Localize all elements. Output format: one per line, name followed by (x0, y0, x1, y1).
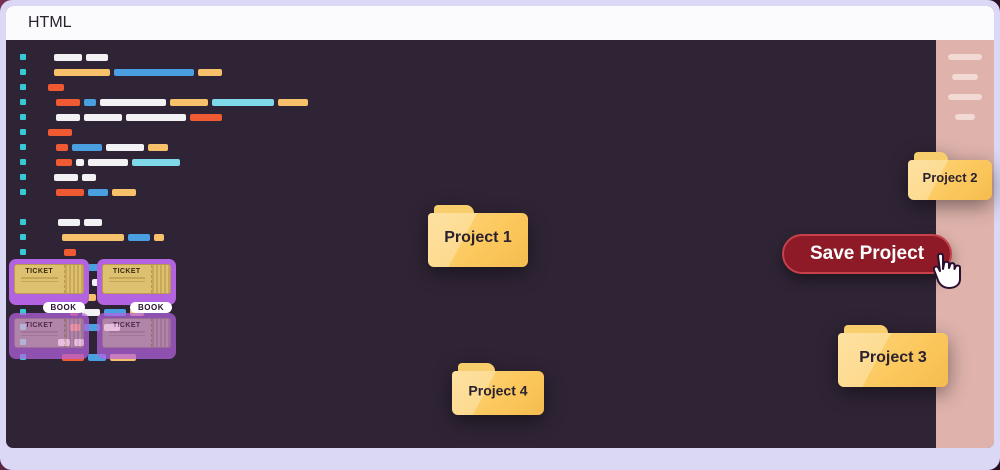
ticket-label: TICKET (15, 268, 64, 275)
ticket-label: TICKET (15, 322, 64, 329)
code-line (40, 84, 930, 91)
ticket-cell[interactable]: TICKET BOOK (97, 259, 177, 305)
ticket-cell[interactable]: TICKET (9, 313, 89, 359)
folder-project-3-label: Project 3 (838, 349, 948, 367)
code-line (40, 69, 930, 76)
ticket-label: TICKET (103, 268, 152, 275)
banner-stage: HTML Project Ideas & Topics For Beginner… (0, 0, 1000, 470)
folder-project-1-label: Project 1 (428, 229, 528, 247)
code-line (40, 159, 930, 166)
code-bullet-icon (20, 174, 26, 180)
ticket-icon: TICKET (102, 264, 172, 294)
code-bullet-icon (20, 249, 26, 255)
folder-project-2[interactable]: Project 2 (908, 152, 992, 200)
folder-project-3[interactable]: Project 3 (838, 325, 948, 387)
code-bullet-icon (20, 234, 26, 240)
ticket-cell[interactable]: TICKET (97, 313, 177, 359)
code-bullet-spacer (20, 204, 26, 210)
ticket-icon: TICKET (14, 318, 84, 348)
code-window-title: HTML (28, 14, 72, 32)
code-bullet-icon (20, 114, 26, 120)
ticket-book-button[interactable]: BOOK (43, 302, 85, 313)
ticket-book-button[interactable]: BOOK (130, 302, 172, 313)
code-bullet-icon (20, 159, 26, 165)
folder-project-2-label: Project 2 (908, 170, 992, 185)
save-project-label: Save Project (810, 243, 924, 265)
code-line (40, 189, 930, 196)
ticket-cell[interactable]: TICKET BOOK (9, 259, 89, 305)
code-window-titlebar: HTML (6, 6, 994, 40)
code-bullet-icon (20, 69, 26, 75)
code-line (40, 174, 930, 181)
code-bullet-icon (20, 84, 26, 90)
code-bullet-icon (20, 99, 26, 105)
code-bullet-icon (20, 129, 26, 135)
code-line (40, 144, 930, 151)
code-line (40, 129, 930, 136)
folder-project-1[interactable]: Project 1 (428, 205, 528, 267)
folder-project-4-label: Project 4 (452, 383, 544, 399)
code-bullet-icon (20, 144, 26, 150)
code-line (40, 54, 930, 61)
code-line (40, 99, 930, 106)
code-bullet-icon (20, 219, 26, 225)
save-project-button[interactable]: Save Project (782, 234, 952, 274)
ticket-icon: TICKET (14, 264, 84, 294)
code-bullet-icon (20, 189, 26, 195)
code-bullet-icon (20, 54, 26, 60)
hand-pointer-icon (930, 250, 964, 290)
ticket-icon: TICKET (102, 318, 172, 348)
ticket-label: TICKET (103, 322, 152, 329)
monitor: HTML (0, 0, 340, 250)
folder-project-4[interactable]: Project 4 (452, 363, 544, 415)
code-line (40, 114, 930, 121)
